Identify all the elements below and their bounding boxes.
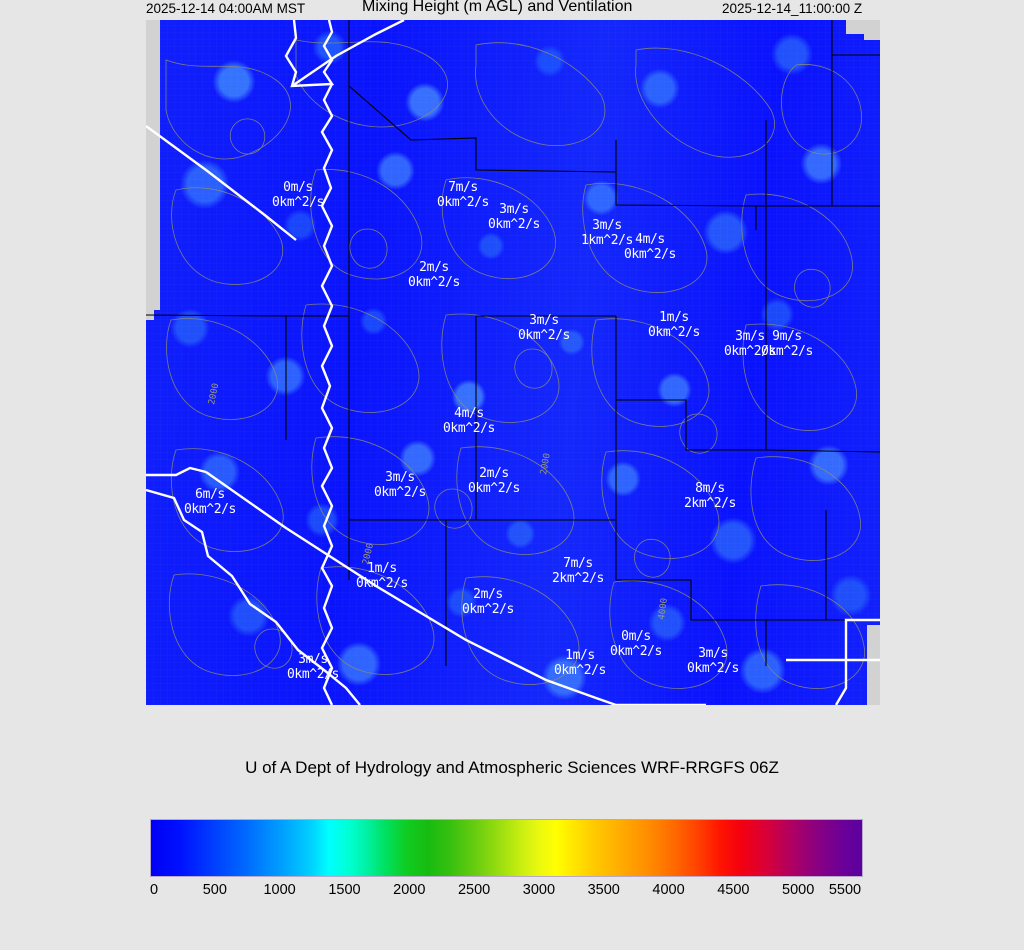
ventilation-value: 0km^2/s [287, 667, 339, 682]
ventilation-value: 0km^2/s [184, 502, 236, 517]
station-label: 7m/s0km^2/s [437, 180, 489, 210]
station-label: 3m/s0km^2/s [488, 202, 540, 232]
wind-speed-value: 2m/s [462, 587, 514, 602]
ventilation-value: 0km^2/s [610, 644, 662, 659]
header-bar: 2025-12-14 04:00AM MST Mixing Height (m … [0, 0, 1024, 20]
colorbar-tick: 5000 [782, 882, 814, 898]
svg-text:2000: 2000 [207, 382, 221, 405]
valid-time-utc: 2025-12-14_11:00:00 Z [722, 1, 862, 16]
station-label: 1m/s0km^2/s [648, 310, 700, 340]
valid-time-local: 2025-12-14 04:00AM MST [146, 1, 305, 16]
station-label: 2m/s0km^2/s [468, 466, 520, 496]
wind-speed-value: 3m/s [687, 646, 739, 661]
wind-speed-value: 8m/s [684, 481, 736, 496]
colorbar-tick: 500 [203, 882, 227, 898]
colorbar-tick: 4000 [652, 882, 684, 898]
wind-speed-value: 9m/s [761, 329, 813, 344]
ventilation-value: 0km^2/s [687, 661, 739, 676]
wind-speed-value: 4m/s [443, 406, 495, 421]
wind-speed-value: 3m/s [374, 470, 426, 485]
mixing-height-colorbar [150, 819, 863, 877]
ventilation-value: 0km^2/s [761, 344, 813, 359]
station-label: 2m/s0km^2/s [462, 587, 514, 617]
wind-speed-value: 2m/s [468, 466, 520, 481]
page-title: Mixing Height (m AGL) and Ventilation [362, 0, 632, 16]
ventilation-value: 0km^2/s [437, 195, 489, 210]
svg-text:2000: 2000 [539, 452, 553, 475]
colorbar-tick: 4500 [717, 882, 749, 898]
station-label: 2m/s0km^2/s [408, 260, 460, 290]
ventilation-value: 0km^2/s [462, 602, 514, 617]
wind-speed-value: 2m/s [408, 260, 460, 275]
colorbar-container: 0500100015002000250030003500400045005000… [150, 819, 863, 877]
colorbar-tick: 5500 [829, 882, 861, 898]
ventilation-value: 0km^2/s [408, 275, 460, 290]
wind-speed-value: 6m/s [184, 487, 236, 502]
station-label: 3m/s0km^2/s [374, 470, 426, 500]
ventilation-value: 2km^2/s [552, 571, 604, 586]
colorbar-tick: 2000 [393, 882, 425, 898]
terrain-contour-lines [166, 40, 865, 689]
mixing-height-map[interactable]: 2000 2000 2000 4000 [146, 20, 880, 705]
ventilation-value: 2km^2/s [684, 496, 736, 511]
station-label: 3m/s0km^2/s [287, 652, 339, 682]
attribution-caption: U of A Dept of Hydrology and Atmospheric… [0, 758, 1024, 778]
station-label: 7m/s2km^2/s [552, 556, 604, 586]
wind-speed-value: 7m/s [437, 180, 489, 195]
station-label: 1m/s0km^2/s [554, 648, 606, 678]
colorbar-tick: 3000 [523, 882, 555, 898]
wind-speed-value: 3m/s [518, 313, 570, 328]
wind-speed-value: 3m/s [287, 652, 339, 667]
station-label: 4m/s0km^2/s [624, 232, 676, 262]
wind-speed-value: 1m/s [356, 561, 408, 576]
colorbar-tick: 0 [150, 882, 158, 898]
colorbar-tick: 2500 [458, 882, 490, 898]
wind-speed-value: 1m/s [648, 310, 700, 325]
wind-speed-value: 7m/s [552, 556, 604, 571]
ventilation-value: 0km^2/s [518, 328, 570, 343]
ventilation-value: 0km^2/s [374, 485, 426, 500]
colorbar-tick-labels: 0500100015002000250030003500400045005000… [144, 882, 869, 904]
wind-speed-value: 1m/s [554, 648, 606, 663]
colorbar-tick: 1500 [328, 882, 360, 898]
ventilation-value: 0km^2/s [272, 195, 324, 210]
station-label: 3m/s0km^2/s [518, 313, 570, 343]
wind-speed-value: 3m/s [581, 218, 633, 233]
ventilation-value: 0km^2/s [624, 247, 676, 262]
ventilation-value: 0km^2/s [554, 663, 606, 678]
colorbar-tick: 1000 [263, 882, 295, 898]
ventilation-value: 0km^2/s [443, 421, 495, 436]
colorbar-tick: 3500 [588, 882, 620, 898]
wind-speed-value: 0m/s [610, 629, 662, 644]
ventilation-value: 0km^2/s [468, 481, 520, 496]
ventilation-value: 0km^2/s [356, 576, 408, 591]
station-label: 4m/s0km^2/s [443, 406, 495, 436]
station-label: 1m/s0km^2/s [356, 561, 408, 591]
svg-text:4000: 4000 [657, 598, 670, 621]
station-label: 3m/s0km^2/s [687, 646, 739, 676]
wind-speed-value: 0m/s [272, 180, 324, 195]
station-label: 8m/s2km^2/s [684, 481, 736, 511]
ventilation-value: 0km^2/s [648, 325, 700, 340]
wind-speed-value: 3m/s [488, 202, 540, 217]
station-label: 6m/s0km^2/s [184, 487, 236, 517]
wind-speed-value: 4m/s [624, 232, 676, 247]
station-label: 0m/s0km^2/s [272, 180, 324, 210]
station-label: 9m/s0km^2/s [761, 329, 813, 359]
station-label: 0m/s0km^2/s [610, 629, 662, 659]
ventilation-value: 0km^2/s [488, 217, 540, 232]
